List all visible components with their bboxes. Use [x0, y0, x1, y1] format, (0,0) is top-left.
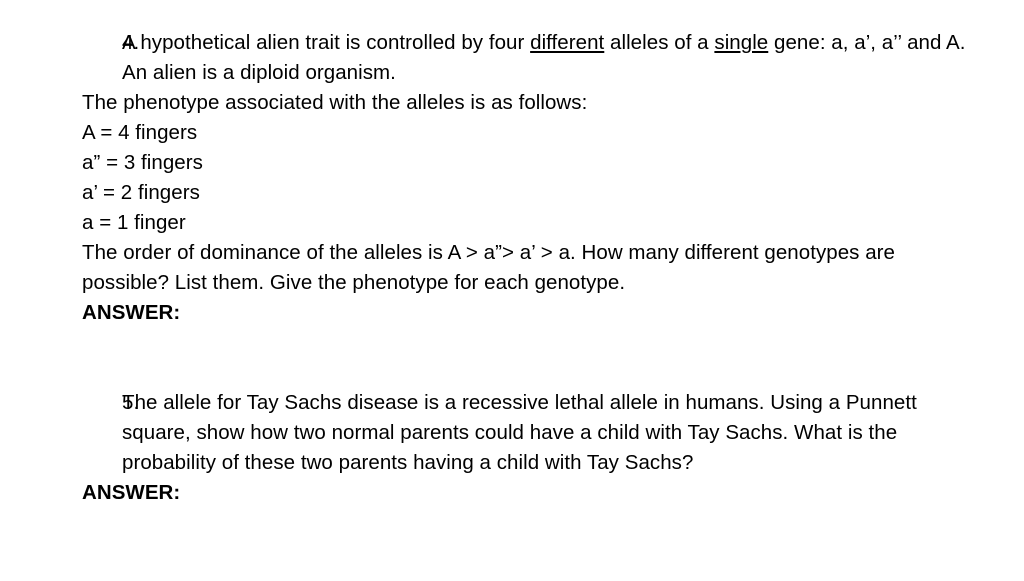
allele-key-item: a = 1 finger: [82, 208, 972, 238]
question-5-answer-label: ANSWER:: [82, 478, 972, 508]
question-5-number: 5.: [122, 388, 156, 418]
allele-key-item: A = 4 fingers: [82, 118, 972, 148]
allele-key-item: a’ = 2 fingers: [82, 178, 972, 208]
question-4-prompt: 4.A hypothetical alien trait is controll…: [122, 28, 972, 88]
question-5-body: 5.The allele for Tay Sachs disease is a …: [82, 388, 972, 478]
allele-key-item: a” = 3 fingers: [82, 148, 972, 178]
question-spacer: [82, 328, 972, 388]
question-5: 5.The allele for Tay Sachs disease is a …: [82, 388, 972, 508]
question-4-emphasis-different: different: [530, 31, 604, 54]
question-4-intro-line: The phenotype associated with the allele…: [82, 88, 972, 118]
worksheet-content: 4.A hypothetical alien trait is controll…: [82, 28, 972, 508]
question-4-body: 4.A hypothetical alien trait is controll…: [82, 28, 972, 88]
worksheet-page: 4.A hypothetical alien trait is controll…: [0, 0, 1024, 581]
question-4-emphasis-single: single: [714, 31, 768, 54]
question-4-dominance-line: The order of dominance of the alleles is…: [82, 238, 972, 298]
question-4-answer-label: ANSWER:: [82, 298, 972, 328]
question-5-prompt: 5.The allele for Tay Sachs disease is a …: [122, 388, 972, 478]
question-4-prompt-part2: alleles of a: [604, 31, 714, 54]
question-4: 4.A hypothetical alien trait is controll…: [82, 28, 972, 328]
question-5-prompt-text: The allele for Tay Sachs disease is a re…: [122, 391, 917, 474]
question-4-number: 4.: [122, 28, 156, 58]
question-4-prompt-part1: A hypothetical alien trait is controlled…: [122, 31, 530, 54]
